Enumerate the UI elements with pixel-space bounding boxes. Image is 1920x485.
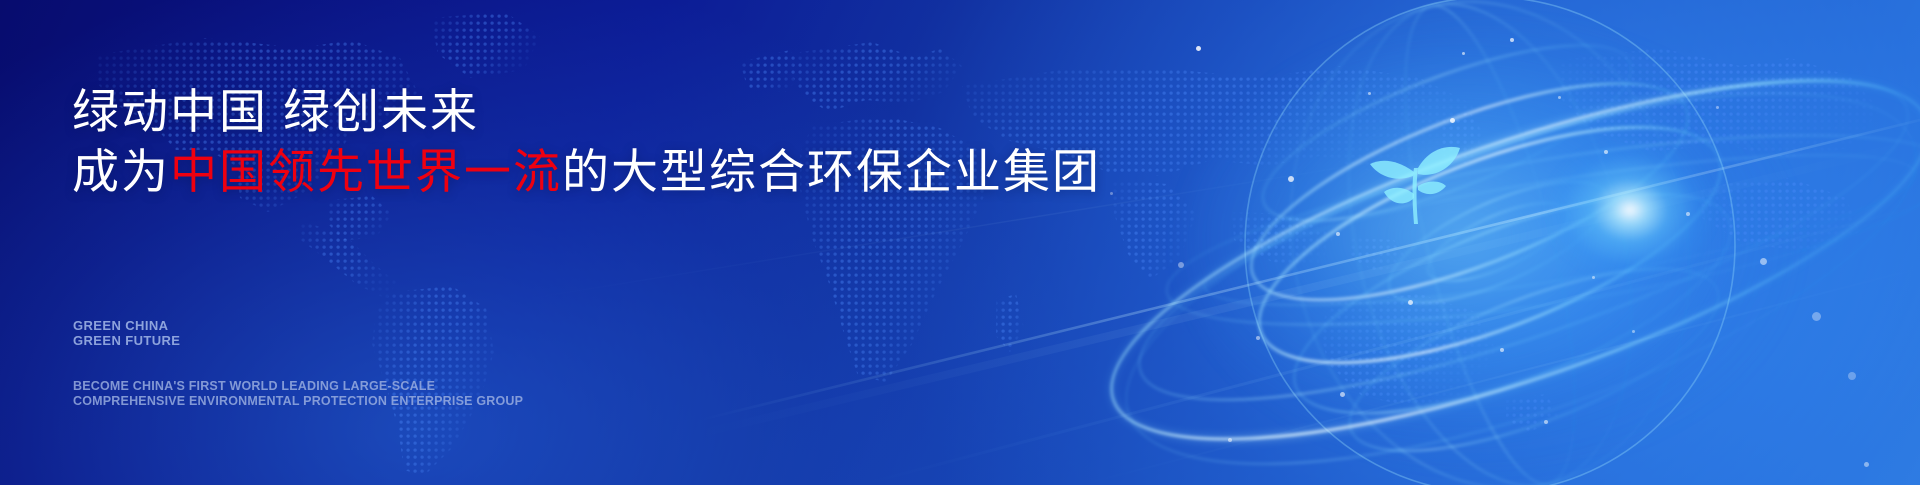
central-light-flare bbox=[1545, 140, 1715, 280]
subtitle-english: BECOME CHINA'S FIRST WORLD LEADING LARGE… bbox=[73, 379, 523, 409]
copy-block: 绿动中国 绿创未来 成为中国领先世界一流的大型综合环保企业集团 GREEN CH… bbox=[72, 0, 1072, 485]
headline-line-1: 绿动中国 绿创未来 bbox=[72, 88, 479, 135]
globe-glow bbox=[1180, 20, 1800, 470]
wireframe-globe bbox=[1090, 0, 1920, 485]
hero-banner: 绿动中国 绿创未来 成为中国领先世界一流的大型综合环保企业集团 GREEN CH… bbox=[0, 0, 1920, 485]
headline-line-2-highlight: 中国领先世界一流 bbox=[170, 145, 562, 198]
headline-line-2-prefix: 成为 bbox=[72, 145, 170, 198]
headline-line-2-suffix: 的大型综合环保企业集团 bbox=[562, 145, 1101, 198]
slogan-english-line-2: GREEN FUTURE bbox=[73, 333, 180, 348]
globe-orbital-rings bbox=[1090, 0, 1920, 485]
sprout-icon bbox=[1358, 120, 1470, 232]
subtitle-english-line-2: COMPREHENSIVE ENVIRONMENTAL PROTECTION E… bbox=[73, 394, 523, 409]
slogan-english-line-1: GREEN CHINA bbox=[73, 318, 180, 333]
headline-line-2: 成为中国领先世界一流的大型综合环保企业集团 bbox=[72, 148, 1101, 195]
slogan-english: GREEN CHINA GREEN FUTURE bbox=[73, 318, 180, 348]
subtitle-english-line-1: BECOME CHINA'S FIRST WORLD LEADING LARGE… bbox=[73, 379, 523, 394]
